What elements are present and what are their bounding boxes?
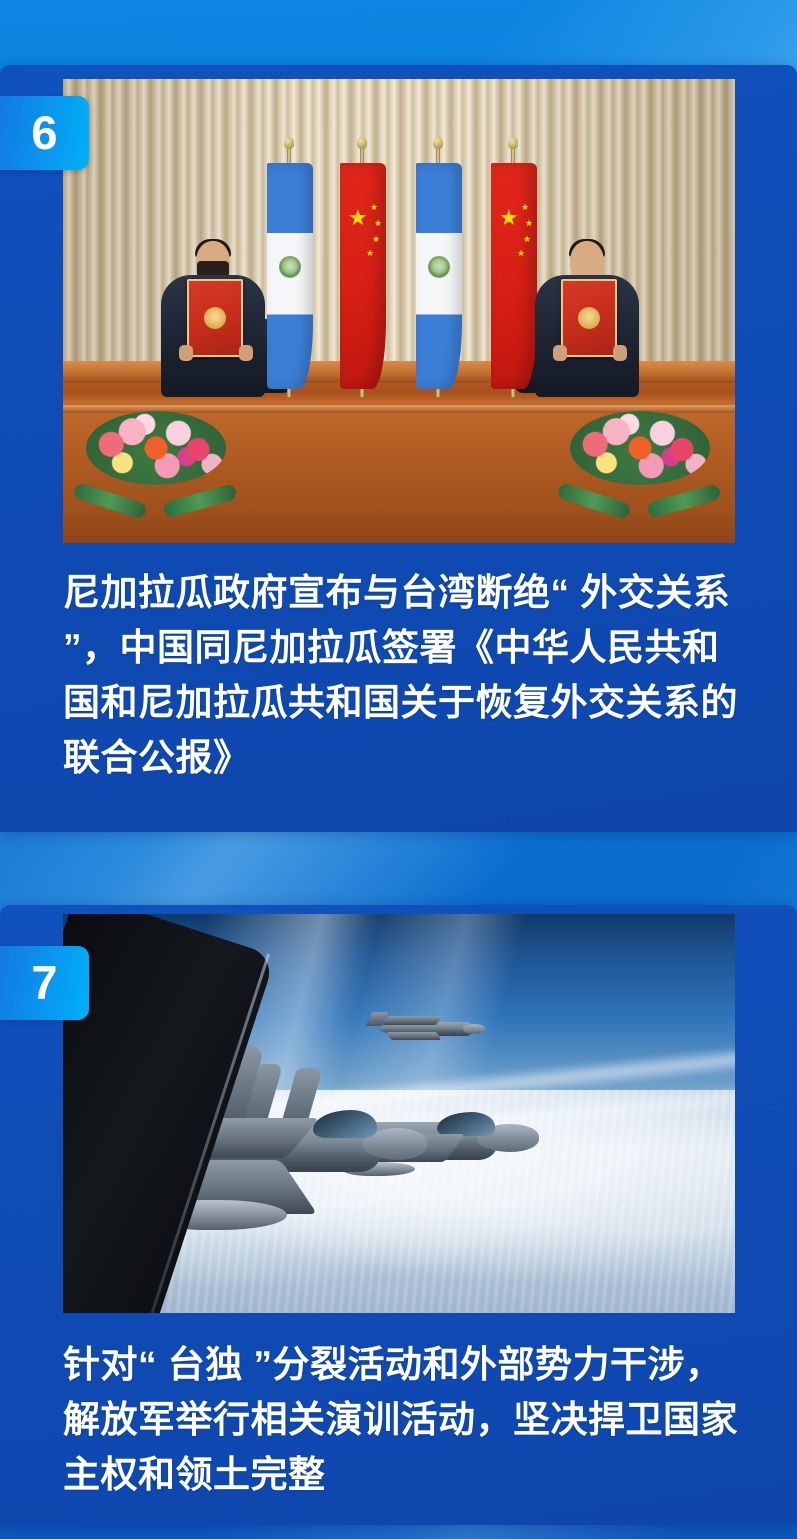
document-folder-left <box>187 279 243 357</box>
distant-jet-wing-upper <box>382 1016 442 1025</box>
card-number-badge-6: 6 <box>0 96 89 170</box>
flag-star-small-8: ★ <box>517 249 525 258</box>
flag-star-small-2: ★ <box>374 219 382 228</box>
flower-cluster-left <box>86 411 226 485</box>
flower-arrangement-right <box>561 397 719 509</box>
page-background: 6 ★ ★ ★ ★ ★ <box>0 0 797 1539</box>
official-left-hand-2 <box>239 345 253 361</box>
distant-jet-nose <box>463 1024 485 1034</box>
flag-knob-4 <box>508 137 518 149</box>
official-right <box>533 221 641 397</box>
flag-star-large-2: ★ <box>499 207 519 229</box>
flag-knob-2 <box>357 137 367 149</box>
flag-nicaragua-2 <box>416 163 462 389</box>
flag-china-1: ★ ★ ★ ★ ★ <box>340 163 386 389</box>
card-number-badge-7: 7 <box>0 946 89 1020</box>
fighter-jets-photo <box>63 914 735 1313</box>
middle-jet-canopy <box>437 1112 495 1136</box>
flag-star-small-6: ★ <box>525 219 533 228</box>
flag-star-small-1: ★ <box>370 203 378 212</box>
flag-knob-1 <box>284 137 294 149</box>
flag-star-large-1: ★ <box>348 207 368 229</box>
document-folder-right <box>561 279 617 357</box>
flag-knob-3 <box>433 137 443 149</box>
folder-emblem-left <box>204 307 226 329</box>
flower-arrangement-left <box>77 397 235 509</box>
flag-star-small-7: ★ <box>523 235 531 244</box>
official-right-hand-2 <box>613 345 627 361</box>
flag-china-2: ★ ★ ★ ★ ★ <box>491 163 537 389</box>
flag-nicaragua-1 <box>267 163 313 389</box>
official-left <box>159 221 267 397</box>
card-caption-7: 针对“ 台独 ”分裂活动和外部势力干涉，解放军举行相关演训活动，坚决捍卫国家主权… <box>63 1337 743 1502</box>
distant-jet-wing-lower <box>387 1032 442 1040</box>
flag-star-small-4: ★ <box>366 249 374 258</box>
folder-emblem-right <box>578 307 600 329</box>
signing-ceremony-photo: ★ ★ ★ ★ ★ ★ ★ ★ ★ ★ <box>63 79 735 543</box>
flag-star-small-3: ★ <box>372 235 380 244</box>
flag-star-small-5: ★ <box>521 203 529 212</box>
official-left-hand-1 <box>179 345 193 361</box>
card-caption-6: 尼加拉瓜政府宣布与台湾断绝“ 外交关系 ”，中国同尼加拉瓜签署《中华人民共和国和… <box>63 565 743 785</box>
foreground-jet-canopy <box>313 1110 377 1138</box>
official-right-hand-1 <box>553 345 567 361</box>
content-card-7: 7 <box>0 905 797 1525</box>
flower-cluster-right <box>570 411 710 485</box>
content-card-6: 6 ★ ★ ★ ★ ★ <box>0 65 797 832</box>
